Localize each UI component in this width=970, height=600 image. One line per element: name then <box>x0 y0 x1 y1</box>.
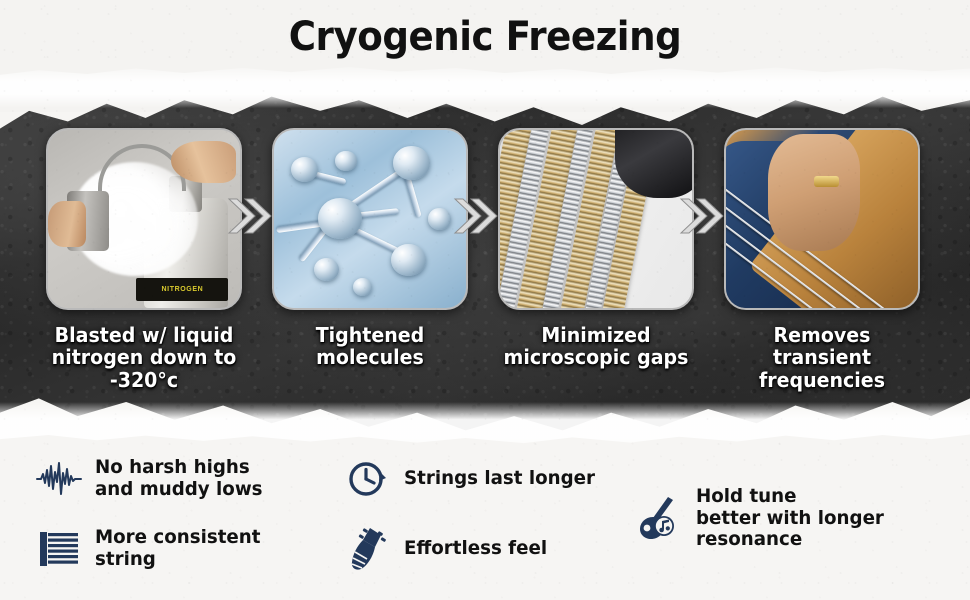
process-step-3: Minimized microscopic gaps <box>498 128 694 369</box>
double-chevron-right-icon <box>452 196 498 236</box>
benefit-item: Hold tune better with longer resonance <box>637 486 892 551</box>
process-step-2-caption: Tightened molecules <box>277 324 463 369</box>
process-step-1-caption: Blasted w/ liquid nitrogen down to -320°… <box>51 324 237 391</box>
clock-arrow-icon <box>345 456 391 502</box>
benefit-item: Effortless feel <box>345 526 553 572</box>
hand-playing-bass-photo <box>724 128 920 310</box>
hand-on-neck-icon <box>345 526 391 572</box>
process-step-4-caption: Removes transient frequencies <box>729 324 915 391</box>
double-chevron-right-icon <box>226 196 272 236</box>
cryogenic-freezing-infographic: Cryogenic Freezing NITROGEN Blasted w/ <box>0 0 970 600</box>
liquid-nitrogen-dewar-photo: NITROGEN <box>46 128 242 310</box>
benefit-item: Strings last longer <box>345 456 603 502</box>
benefit-label: No harsh highs and muddy lows <box>95 457 263 500</box>
process-step-2: Tightened molecules <box>272 128 468 369</box>
process-steps: NITROGEN Blasted w/ liquid nitrogen down… <box>0 128 970 403</box>
wound-strings-macro-photo <box>498 128 694 310</box>
guitar-music-note-icon <box>637 495 683 541</box>
benefit-label: Strings last longer <box>404 468 595 490</box>
benefits-list: No harsh highs and muddy lows More consi… <box>0 448 970 600</box>
fretboard-strings-icon <box>36 526 82 572</box>
benefit-item: No harsh highs and muddy lows <box>36 456 270 502</box>
photo-nitrogen-label: NITROGEN <box>136 278 228 301</box>
benefit-label: Hold tune better with longer resonance <box>696 486 884 551</box>
benefit-label: More consistent string <box>95 527 260 570</box>
header-band: Cryogenic Freezing <box>0 0 970 112</box>
double-chevron-right-icon <box>678 196 724 236</box>
benefit-item: More consistent string <box>36 526 267 572</box>
page-title: Cryogenic Freezing <box>34 14 936 60</box>
process-step-4: Removes transient frequencies <box>724 128 920 391</box>
process-step-1: NITROGEN Blasted w/ liquid nitrogen down… <box>46 128 242 391</box>
molecular-lattice-photo <box>272 128 468 310</box>
benefit-label: Effortless feel <box>404 538 547 560</box>
audio-waveform-icon <box>36 456 82 502</box>
process-step-3-caption: Minimized microscopic gaps <box>503 324 689 369</box>
